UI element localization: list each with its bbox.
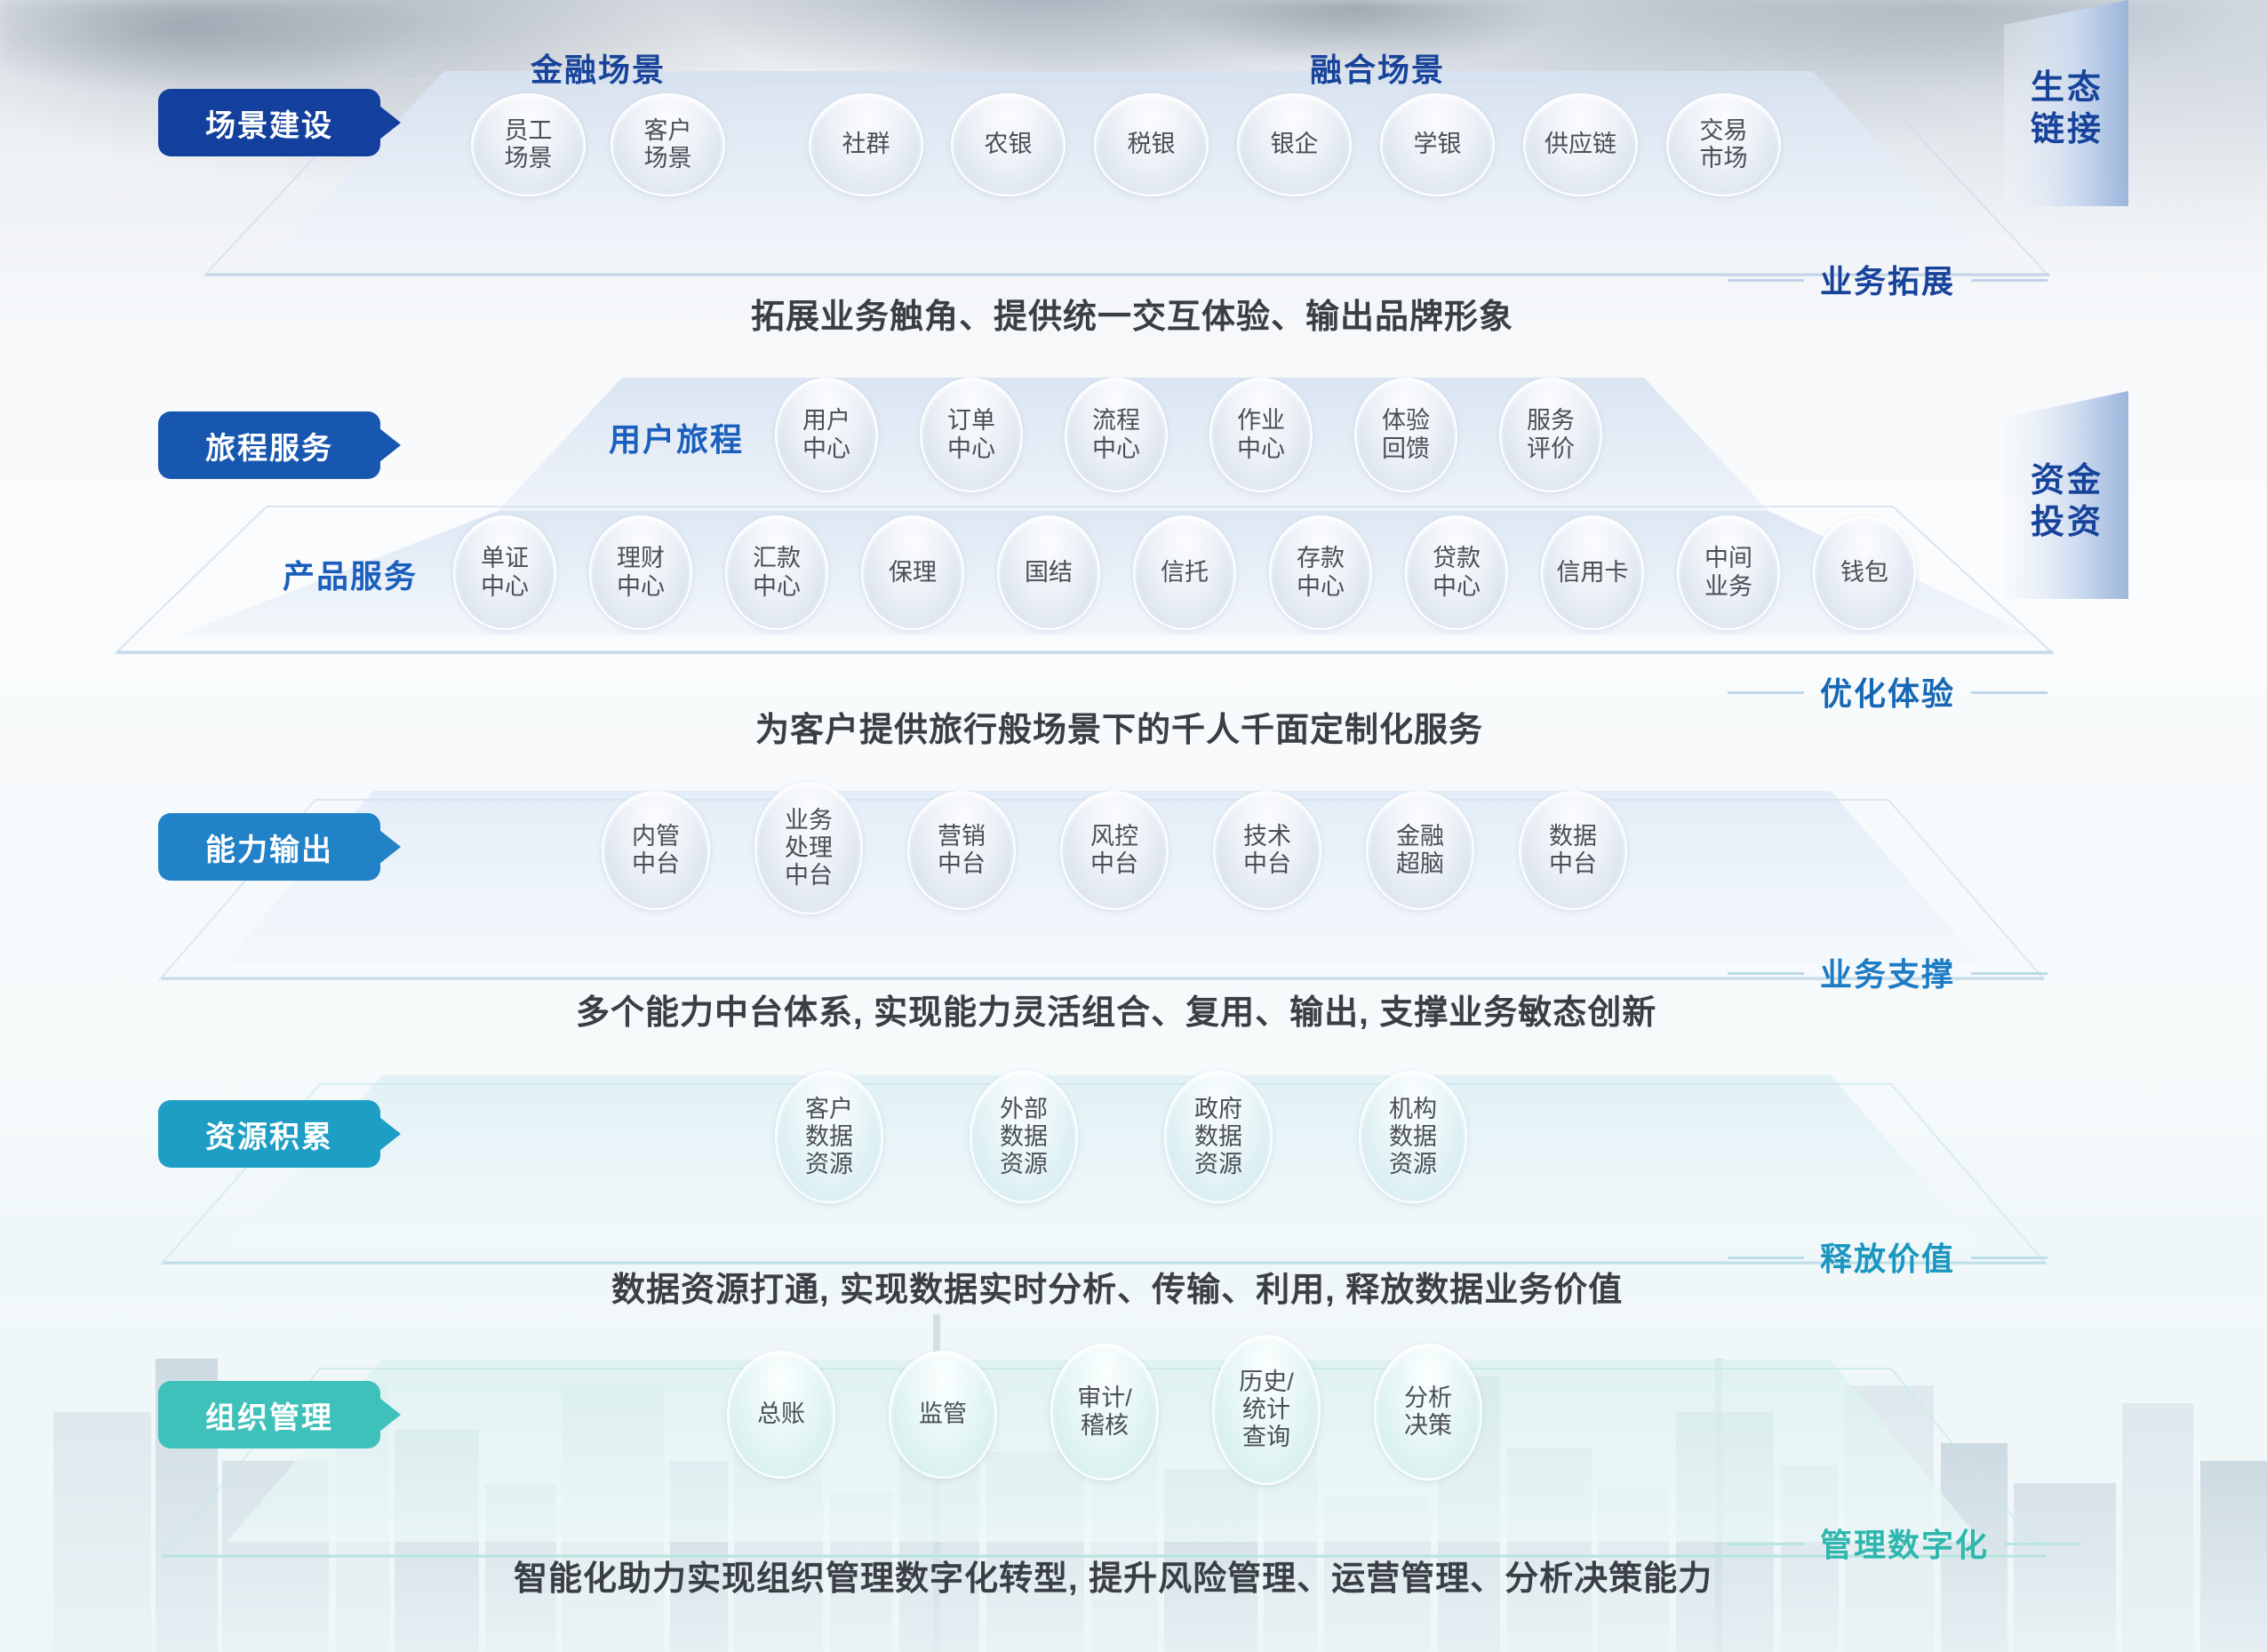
node-line: 处理	[785, 834, 833, 862]
row-label-user-journey: 用户旅程	[609, 414, 744, 460]
banner-capital-investment: 资金 投资	[2014, 435, 2120, 569]
benefit-label-business-expansion: 业务拓展	[1820, 256, 1955, 302]
node-line: 中心	[1237, 435, 1285, 463]
node-line: 回馈	[1382, 435, 1430, 463]
node-community[interactable]: 社群	[809, 93, 923, 196]
node-line: 数据	[1194, 1123, 1242, 1151]
banner-line-1: 资金	[2031, 460, 2103, 503]
banner-line-2: 链接	[2031, 109, 2103, 152]
node-line: 客户	[644, 117, 692, 145]
node-line: 中心	[802, 435, 850, 463]
benefit-label-release-value: 释放价值	[1820, 1233, 1955, 1280]
node-line: 员工	[505, 117, 553, 145]
node-line: 流程	[1092, 407, 1140, 435]
node-line: 数据	[1549, 823, 1597, 850]
node-line: 监管	[919, 1401, 967, 1428]
node-line: 分析	[1404, 1385, 1452, 1412]
node-line: 税银	[1128, 131, 1176, 158]
node-line: 机构	[1389, 1096, 1437, 1123]
benefit-text: 业务拓展	[1820, 263, 1955, 299]
node-process-center[interactable]: 流程 中心	[1065, 378, 1168, 492]
node-school-bank[interactable]: 学银	[1380, 93, 1495, 196]
node-line: 中间	[1704, 545, 1752, 572]
benefit-text: 优化体验	[1820, 675, 1955, 712]
node-financial-brain[interactable]: 金融 超脑	[1366, 791, 1474, 910]
node-analysis-decision[interactable]: 分析 决策	[1374, 1344, 1482, 1480]
node-line: 作业	[1237, 407, 1285, 435]
layer-tag-organization-management[interactable]: 组织管理	[158, 1381, 380, 1448]
node-line: 资源	[805, 1151, 853, 1178]
layer-tag-label: 能力输出	[205, 826, 333, 869]
node-external-data-resource[interactable]: 外部 数据 资源	[970, 1071, 1078, 1203]
node-line: 贷款	[1433, 545, 1481, 572]
benefit-text: 管理数字化	[1820, 1527, 1989, 1563]
node-line: 营销	[938, 823, 986, 850]
node-line: 中心	[481, 573, 529, 601]
banner-line-1: 生态	[2031, 68, 2103, 110]
node-line: 中心	[1297, 573, 1345, 601]
node-line: 业务	[1704, 573, 1752, 601]
node-line: 中心	[1092, 435, 1140, 463]
node-tax-bank[interactable]: 税银	[1094, 93, 1209, 196]
node-marketing-midend[interactable]: 营销 中台	[907, 791, 1016, 910]
node-line: 金融	[1396, 823, 1444, 850]
node-line: 外部	[1000, 1096, 1048, 1123]
node-line: 历史/	[1239, 1369, 1294, 1396]
node-line: 数据	[805, 1123, 853, 1151]
node-customer-scene[interactable]: 客户 场景	[611, 93, 725, 196]
node-loan-center[interactable]: 贷款 中心	[1405, 515, 1508, 630]
node-line: 审计/	[1077, 1385, 1132, 1412]
node-internal-mgmt-midend[interactable]: 内管 中台	[602, 791, 710, 910]
node-line: 技术	[1243, 823, 1291, 850]
node-line: 客户	[805, 1096, 853, 1123]
node-line: 业务	[785, 807, 833, 834]
node-line: 资源	[1194, 1151, 1242, 1178]
banner-line-2: 投资	[2031, 502, 2103, 545]
node-line: 中台	[1243, 850, 1291, 878]
node-line: 单证	[481, 545, 529, 572]
node-intermediary-business[interactable]: 中间 业务	[1677, 515, 1780, 630]
node-line: 超脑	[1396, 850, 1444, 878]
node-line: 政府	[1194, 1096, 1242, 1123]
node-line: 中心	[617, 573, 665, 601]
node-line: 中台	[938, 850, 986, 878]
node-line: 供应链	[1545, 131, 1616, 158]
node-line: 总账	[757, 1401, 805, 1428]
node-supply-chain[interactable]: 供应链	[1523, 93, 1638, 196]
node-technology-midend[interactable]: 技术 中台	[1213, 791, 1321, 910]
node-experience-feedback[interactable]: 体验 回馈	[1354, 378, 1457, 492]
node-line: 汇款	[753, 545, 801, 572]
node-factoring[interactable]: 保理	[861, 515, 964, 630]
caption-layer-resource-accumulation: 数据资源打通, 实现数据实时分析、传输、利用, 释放数据业务价值	[611, 1262, 1623, 1311]
node-line: 场景	[644, 145, 692, 172]
node-operation-center[interactable]: 作业 中心	[1209, 378, 1313, 492]
node-line: 体验	[1382, 407, 1430, 435]
node-document-center[interactable]: 单证 中心	[453, 515, 556, 630]
node-agri-bank[interactable]: 农银	[951, 93, 1066, 196]
node-risk-control-midend[interactable]: 风控 中台	[1060, 791, 1169, 910]
benefit-text: 业务支撑	[1820, 956, 1955, 993]
layer-tag-label: 组织管理	[205, 1393, 333, 1437]
node-line: 资源	[1389, 1151, 1437, 1178]
benefit-label-business-support: 业务支撑	[1820, 949, 1955, 995]
node-line: 学银	[1414, 131, 1462, 158]
node-line: 信托	[1161, 559, 1209, 587]
node-line: 场景	[505, 145, 553, 172]
node-supervision[interactable]: 监管	[889, 1351, 997, 1479]
node-international-settlement[interactable]: 国结	[997, 515, 1100, 630]
node-credit-card[interactable]: 信用卡	[1541, 515, 1644, 630]
node-trading-market[interactable]: 交易 市场	[1666, 93, 1781, 196]
node-line: 信用卡	[1557, 559, 1629, 587]
node-government-data-resource[interactable]: 政府 数据 资源	[1164, 1071, 1273, 1203]
node-customer-data-resource[interactable]: 客户 数据 资源	[775, 1071, 883, 1203]
node-wealth-center[interactable]: 理财 中心	[589, 515, 692, 630]
node-line: 中心	[947, 435, 995, 463]
caption-layer-scene-construction: 拓展业务触角、提供统一交互体验、输出品牌形象	[751, 289, 1513, 338]
node-service-evaluation[interactable]: 服务 评价	[1499, 378, 1602, 492]
node-line: 用户	[802, 407, 850, 435]
node-line: 中台	[1090, 850, 1138, 878]
node-line: 中心	[753, 573, 801, 601]
node-user-center[interactable]: 用户 中心	[775, 378, 878, 492]
node-line: 交易	[1700, 117, 1748, 145]
node-line: 风控	[1090, 823, 1138, 850]
node-bank-enterprise[interactable]: 银企	[1237, 93, 1352, 196]
group-heading-fusion-scene: 融合场景	[1310, 44, 1445, 91]
layer-tag-label: 旅程服务	[205, 424, 333, 467]
layer-tag-scene-construction[interactable]: 场景建设	[158, 89, 380, 156]
node-data-midend[interactable]: 数据 中台	[1519, 791, 1627, 910]
node-audit-inspection[interactable]: 审计/ 稽核	[1050, 1344, 1159, 1480]
group-heading-financial-scene: 金融场景	[531, 44, 666, 91]
node-line: 农银	[985, 131, 1033, 158]
node-line: 市场	[1700, 145, 1748, 172]
node-line: 评价	[1527, 435, 1575, 463]
node-history-statistics-query[interactable]: 历史/ 统计 查询	[1212, 1335, 1321, 1485]
caption-layer-journey-service: 为客户提供旅行般场景下的千人千面定制化服务	[755, 702, 1483, 751]
caption-layer-capability-output: 多个能力中台体系, 实现能力灵活组合、复用、输出, 支撑业务敏态创新	[576, 985, 1656, 1033]
node-deposit-center[interactable]: 存款 中心	[1269, 515, 1372, 630]
node-line: 决策	[1404, 1412, 1452, 1440]
caption-layer-organization-management: 智能化助力实现组织管理数字化转型, 提升风险管理、运营管理、分析决策能力	[514, 1551, 1712, 1600]
node-line: 存款	[1297, 545, 1345, 572]
node-line: 资源	[1000, 1151, 1048, 1178]
node-trust[interactable]: 信托	[1133, 515, 1236, 630]
node-line: 中台	[632, 850, 680, 878]
node-line: 保理	[889, 559, 937, 587]
layer-tag-label: 资源积累	[205, 1113, 333, 1156]
layer-tag-label: 场景建设	[205, 101, 333, 145]
node-business-process-midend[interactable]: 业务 处理 中台	[754, 782, 863, 914]
banner-ecological-link: 生态 链接	[2014, 43, 2120, 176]
node-remittance-center[interactable]: 汇款 中心	[725, 515, 828, 630]
node-line: 稽核	[1081, 1412, 1129, 1440]
node-line: 社群	[842, 131, 890, 158]
benefit-text: 释放价值	[1820, 1241, 1955, 1277]
benefit-label-management-digitalization: 管理数字化	[1820, 1520, 1989, 1566]
node-line: 服务	[1527, 407, 1575, 435]
node-line: 中台	[785, 862, 833, 890]
row-label-product-service: 产品服务	[283, 551, 418, 597]
node-employee-scene[interactable]: 员工 场景	[471, 93, 586, 196]
node-line: 中心	[1433, 573, 1481, 601]
node-institution-data-resource[interactable]: 机构 数据 资源	[1359, 1071, 1467, 1203]
node-line: 订单	[947, 407, 995, 435]
node-line: 内管	[632, 823, 680, 850]
node-line: 查询	[1242, 1424, 1290, 1451]
layer-tag-capability-output[interactable]: 能力输出	[158, 813, 380, 881]
layer-tag-resource-accumulation[interactable]: 资源积累	[158, 1100, 380, 1168]
node-wallet[interactable]: 钱包	[1813, 515, 1916, 630]
benefit-label-optimize-experience: 优化体验	[1820, 668, 1955, 714]
node-general-ledger[interactable]: 总账	[727, 1351, 835, 1479]
node-line: 理财	[617, 545, 665, 572]
node-line: 银企	[1271, 131, 1319, 158]
layer-tag-journey-service[interactable]: 旅程服务	[158, 411, 380, 479]
node-line: 钱包	[1840, 559, 1888, 587]
node-line: 国结	[1025, 559, 1073, 587]
node-line: 中台	[1549, 850, 1597, 878]
node-line: 数据	[1389, 1123, 1437, 1151]
node-line: 统计	[1242, 1396, 1290, 1424]
node-line: 数据	[1000, 1123, 1048, 1151]
node-order-center[interactable]: 订单 中心	[920, 378, 1023, 492]
